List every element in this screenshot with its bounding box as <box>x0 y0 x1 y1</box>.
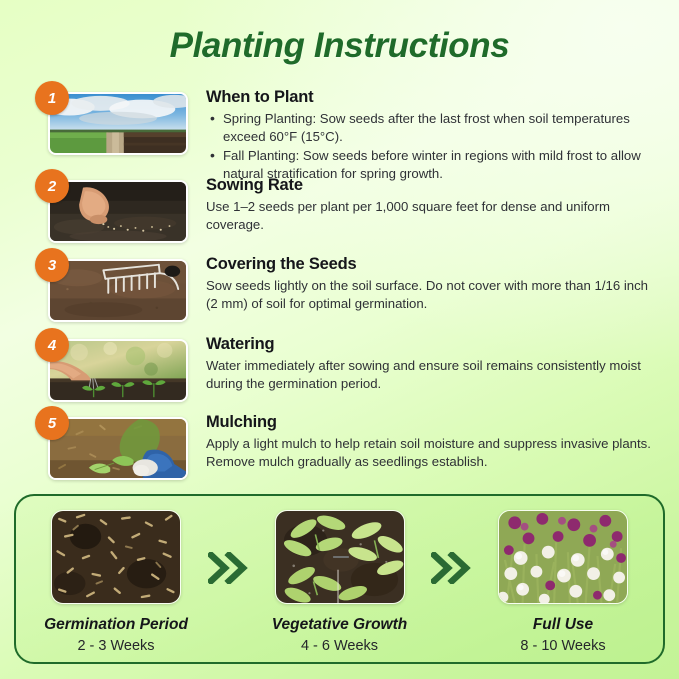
step-5-body: Mulching Apply a light mulch to help ret… <box>206 413 658 471</box>
step-1-thumbnail-wrap: 1 <box>48 92 188 155</box>
timeline-stage-germination: Germination Period 2 - 3 Weeks <box>36 510 196 654</box>
step-5-heading: Mulching <box>206 413 658 432</box>
step-1-heading: When to Plant <box>206 88 658 107</box>
step-2-photo <box>48 180 188 243</box>
step-2-thumbnail-wrap: 2 <box>48 180 188 243</box>
timeline-stage-2-duration: 4 - 6 Weeks <box>301 638 378 654</box>
step-number-badge-4: 4 <box>35 328 69 362</box>
step-3-thumbnail-wrap: 3 <box>48 259 188 322</box>
growth-timeline-panel: Germination Period 2 - 3 Weeks <box>14 494 665 664</box>
step-1-bullets: Spring Planting: Sow seeds after the las… <box>206 110 658 183</box>
timeline-stage-vegetative: Vegetative Growth 4 - 6 Weeks <box>260 510 420 654</box>
step-number-badge-2: 2 <box>35 169 69 203</box>
step-2-body: Sowing Rate Use 1–2 seeds per plant per … <box>206 176 658 234</box>
timeline-columns: Germination Period 2 - 3 Weeks <box>16 496 663 662</box>
timeline-stage-3-duration: 8 - 10 Weeks <box>520 638 605 654</box>
step-3-text: Sow seeds lightly on the soil surface. D… <box>206 277 658 313</box>
step-5-photo <box>48 417 188 480</box>
step-1-body: When to Plant Spring Planting: Sow seeds… <box>206 88 658 184</box>
step-4-heading: Watering <box>206 335 658 354</box>
step-4-text: Water immediately after sowing and ensur… <box>206 357 658 393</box>
timeline-stage-full-use: Full Use 8 - 10 Weeks <box>483 510 643 654</box>
step-4-body: Watering Water immediately after sowing … <box>206 335 658 393</box>
step-number-badge-1: 1 <box>35 81 69 115</box>
step-number-badge-3: 3 <box>35 248 69 282</box>
timeline-stage-2-photo <box>275 510 405 604</box>
step-2-heading: Sowing Rate <box>206 176 658 195</box>
timeline-stage-1-duration: 2 - 3 Weeks <box>77 638 154 654</box>
step-number-badge-5: 5 <box>35 406 69 440</box>
step-1-bullet: Spring Planting: Sow seeds after the las… <box>206 110 658 146</box>
step-3-photo <box>48 259 188 322</box>
step-5-text: Apply a light mulch to help retain soil … <box>206 435 658 471</box>
step-2-text: Use 1–2 seeds per plant per 1,000 square… <box>206 198 658 234</box>
planting-instructions-infographic: Planting Instructions 1 <box>0 0 679 679</box>
step-3-body: Covering the Seeds Sow seeds lightly on … <box>206 255 658 313</box>
step-4-thumbnail-wrap: 4 <box>48 339 188 402</box>
timeline-stage-3-label: Full Use <box>533 616 593 634</box>
double-chevron-right-icon <box>200 510 256 584</box>
step-4-photo <box>48 339 188 402</box>
step-1-photo <box>48 92 188 155</box>
step-3-heading: Covering the Seeds <box>206 255 658 274</box>
step-5-thumbnail-wrap: 5 <box>48 417 188 480</box>
timeline-stage-2-label: Vegetative Growth <box>272 616 408 634</box>
timeline-stage-3-photo <box>498 510 628 604</box>
double-chevron-right-icon <box>423 510 479 584</box>
page-title: Planting Instructions <box>0 26 679 66</box>
timeline-stage-1-photo <box>51 510 181 604</box>
timeline-stage-1-label: Germination Period <box>44 616 188 634</box>
